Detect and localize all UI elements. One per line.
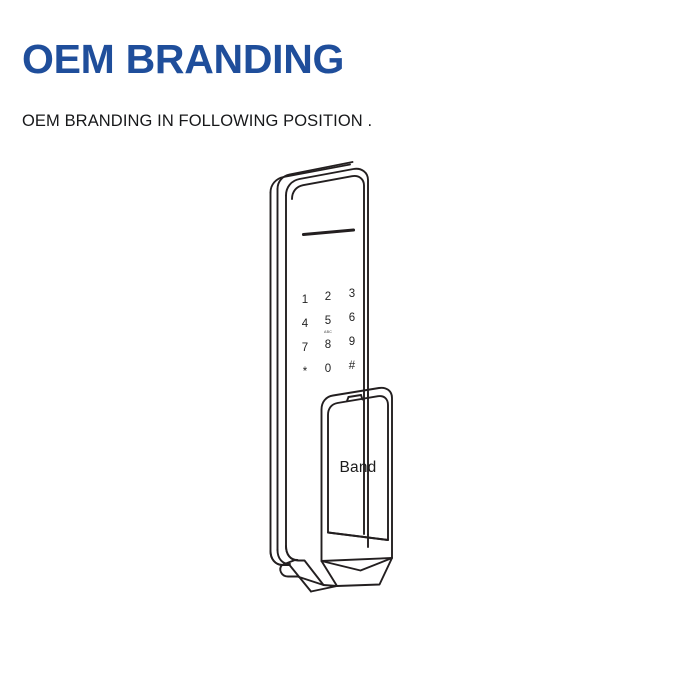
lock-body-back-left-edge <box>271 193 283 566</box>
lock-body-mid-left-edge <box>278 189 291 564</box>
keypad-key-6[interactable]: 6 <box>342 313 362 325</box>
keypad-key-hash[interactable]: # <box>342 361 362 373</box>
keypad-key-3[interactable]: 3 <box>342 289 362 301</box>
handle-top-notch <box>349 395 362 397</box>
keypad-key-7[interactable]: 7 <box>295 343 315 355</box>
keypad-key-8[interactable]: 8 <box>318 340 338 352</box>
door-lock-drawing <box>248 158 428 618</box>
product-illustration: 1 2 3 4 5 6 ABC 7 8 9 * 0 # Band <box>248 158 428 618</box>
page-title: OEM BRANDING <box>22 35 344 83</box>
lock-base-handle-link <box>324 585 338 586</box>
page-root: OEM BRANDING OEM BRANDING IN FOLLOWING P… <box>0 0 680 674</box>
keypad-key-0[interactable]: 0 <box>318 364 338 376</box>
keypad-key-star[interactable]: * <box>295 367 315 379</box>
handle-inner-face <box>328 396 388 540</box>
keypad-key-4[interactable]: 4 <box>295 319 315 331</box>
page-subtitle: OEM BRANDING IN FOLLOWING POSITION . <box>22 111 372 131</box>
keypad-key-9[interactable]: 9 <box>342 337 362 349</box>
handle-bottom-divider <box>328 533 388 541</box>
handle-base-link-left <box>311 586 337 592</box>
keypad-key-1[interactable]: 1 <box>295 295 315 307</box>
keypad-key-2[interactable]: 2 <box>318 292 338 304</box>
lock-indicator-slot <box>304 230 354 235</box>
handle-bottom-edge-top <box>322 558 393 561</box>
handle-outer-shell <box>322 388 393 571</box>
keypad-key-5[interactable]: 5 <box>318 316 338 328</box>
